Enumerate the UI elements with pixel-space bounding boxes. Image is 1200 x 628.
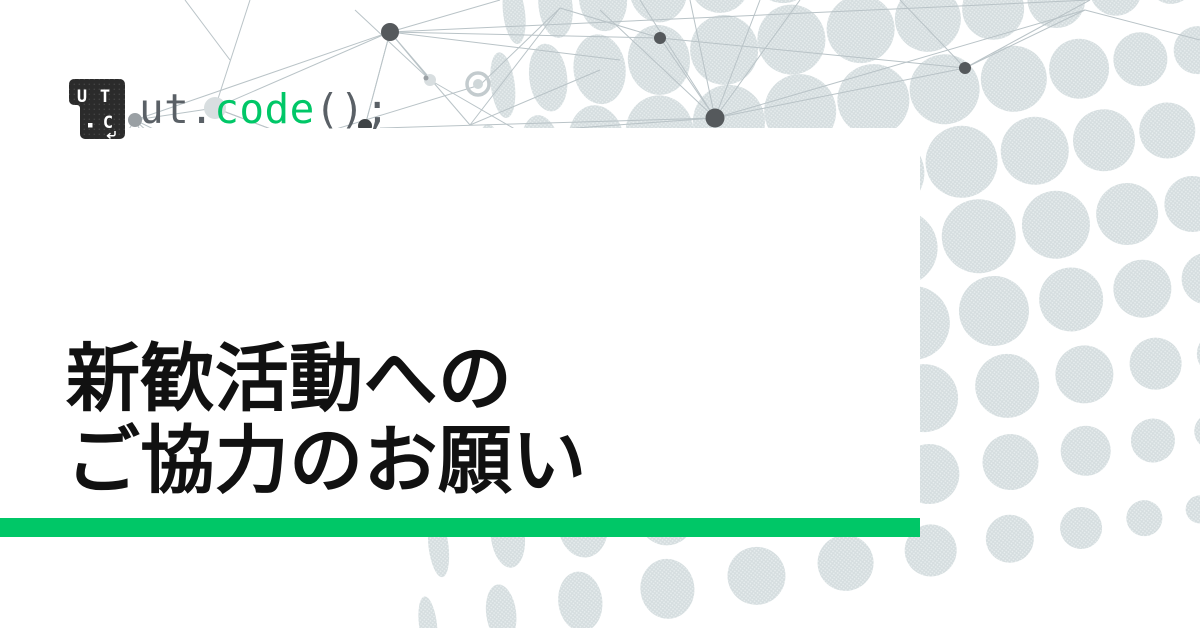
network-node-dark [706, 109, 725, 128]
page-title: 新歓活動への ご協力のお願い [66, 338, 587, 504]
svg-text:T: T [100, 87, 110, 107]
wordmark: ut.code(); [139, 89, 390, 130]
network-node-dark [654, 32, 666, 44]
network-node-light [424, 74, 436, 86]
wordmark-prefix: ut. [139, 85, 214, 133]
accent-bar [0, 518, 920, 537]
headline-line-1: 新歓活動への [66, 338, 587, 421]
wordmark-highlight: code [214, 85, 314, 133]
network-node-ring-core [473, 79, 483, 89]
headline-line-2: ご協力のお願い [66, 420, 587, 503]
network-node-dark [381, 23, 399, 41]
brand-lockup[interactable]: U T C ut.code(); [68, 78, 390, 140]
network-node-ring [467, 73, 489, 95]
svg-text:U: U [77, 87, 87, 107]
utcode-logo-icon: U T C [68, 78, 126, 140]
wordmark-suffix: (); [315, 85, 390, 133]
og-image-canvas: U T C ut.code(); 新歓活動への ご協力のお願い [0, 0, 1200, 628]
network-node-dark [959, 62, 971, 74]
network-node-mid [424, 76, 429, 81]
svg-text:C: C [103, 113, 113, 133]
